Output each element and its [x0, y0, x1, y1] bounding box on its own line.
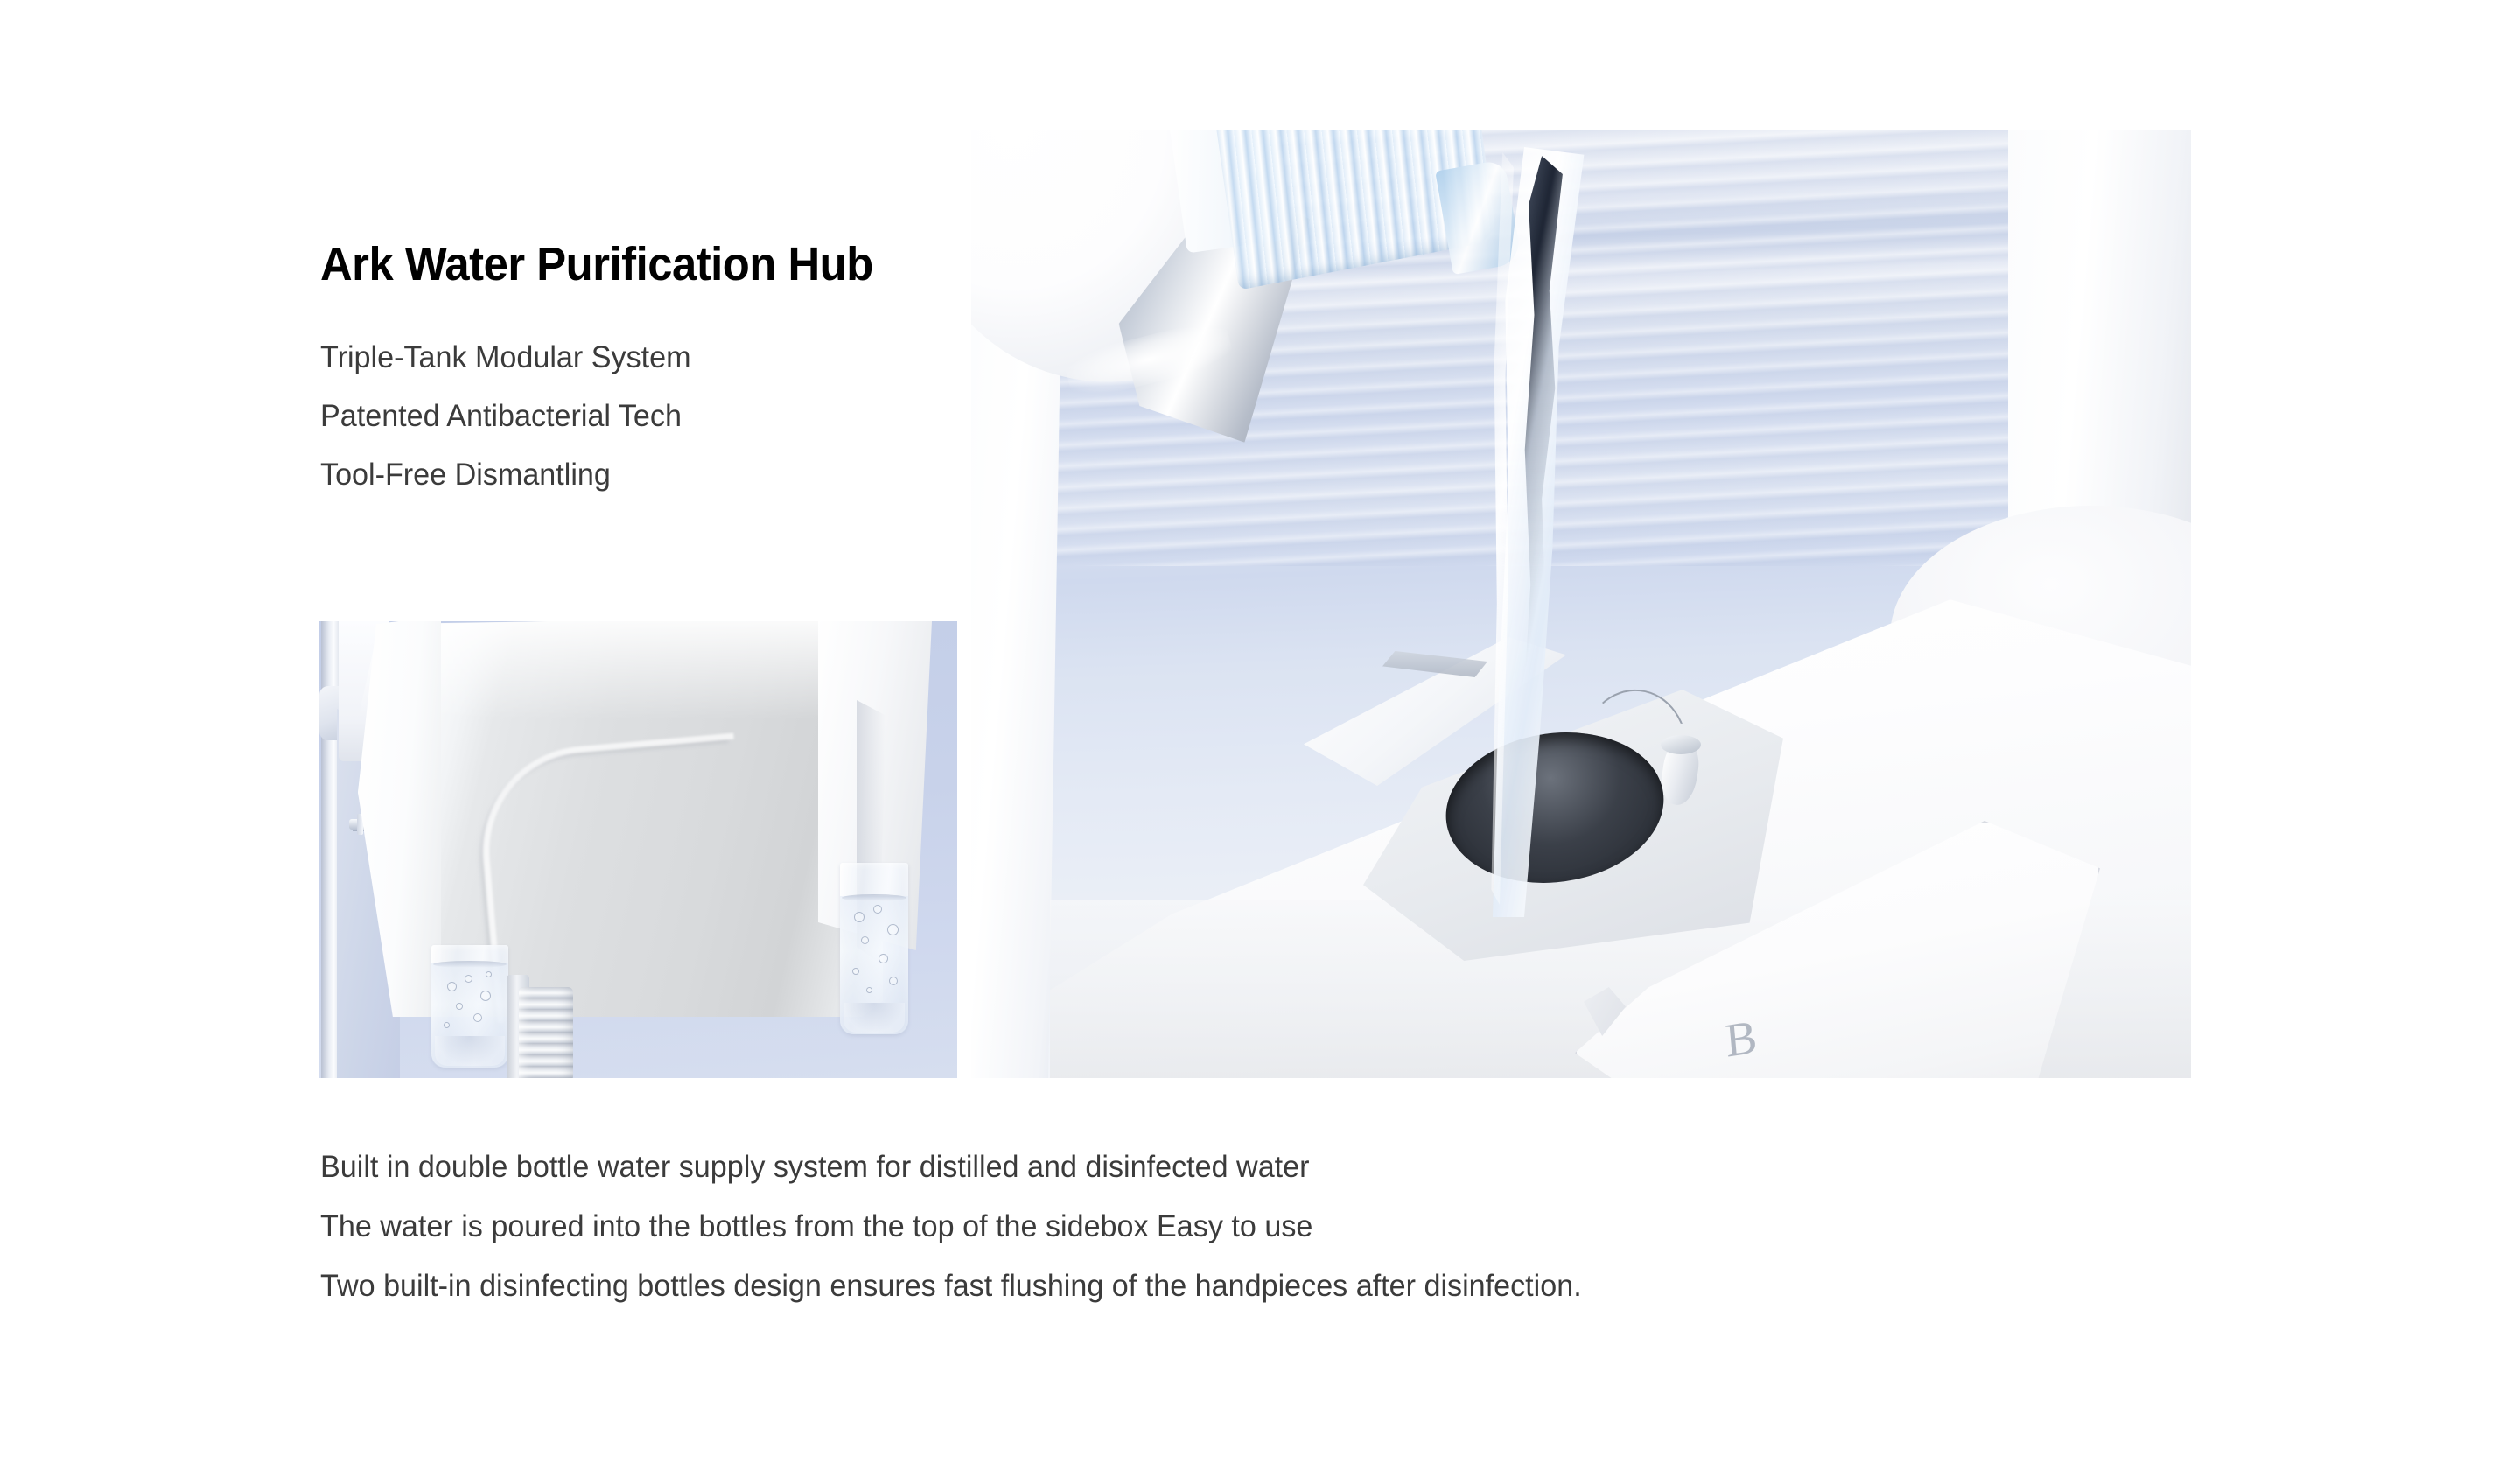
description-item: Built in double bottle water supply syst… [320, 1137, 1582, 1197]
sidebox-product-image [319, 621, 957, 1078]
feature-item: Tool-Free Dismantling [320, 445, 691, 504]
brand-logo-b: B [1724, 1009, 1760, 1068]
feature-item: Triple-Tank Modular System [320, 328, 691, 387]
bubble [480, 990, 491, 1001]
description-item: The water is poured into the bottles fro… [320, 1197, 1582, 1256]
feature-item: Patented Antibacterial Tech [320, 387, 691, 445]
bubble [852, 968, 859, 975]
description-item: Two built-in disinfecting bottles design… [320, 1256, 1582, 1316]
bottle-base-right [843, 1003, 905, 1032]
bubble [447, 982, 457, 991]
bubble [878, 954, 888, 963]
bubble [854, 912, 864, 922]
page-title: Ark Water Purification Hub [320, 241, 873, 288]
bubble [473, 1013, 482, 1022]
fill-port-cap-top [1661, 735, 1701, 754]
bubble [486, 971, 492, 977]
water-bottle-left [431, 945, 508, 1067]
feature-list: Triple-Tank Modular System Patented Anti… [320, 328, 700, 504]
bubble [889, 976, 898, 985]
bottle-water-surface-right [842, 894, 906, 901]
corrugated-hose [519, 987, 573, 1078]
bottle-water-surface-left [433, 961, 507, 968]
bubble [444, 1022, 450, 1028]
description-list: Built in double bottle water supply syst… [320, 1137, 1614, 1316]
bubble [873, 905, 882, 913]
bubble [861, 936, 869, 944]
water-bottle-right [840, 863, 908, 1034]
bubble [887, 924, 899, 935]
water-filling-product-image: B [971, 129, 2191, 1078]
bubble [465, 975, 472, 983]
bubble [866, 987, 872, 993]
bubble [456, 1003, 463, 1010]
bottle-base-left [435, 1036, 505, 1066]
